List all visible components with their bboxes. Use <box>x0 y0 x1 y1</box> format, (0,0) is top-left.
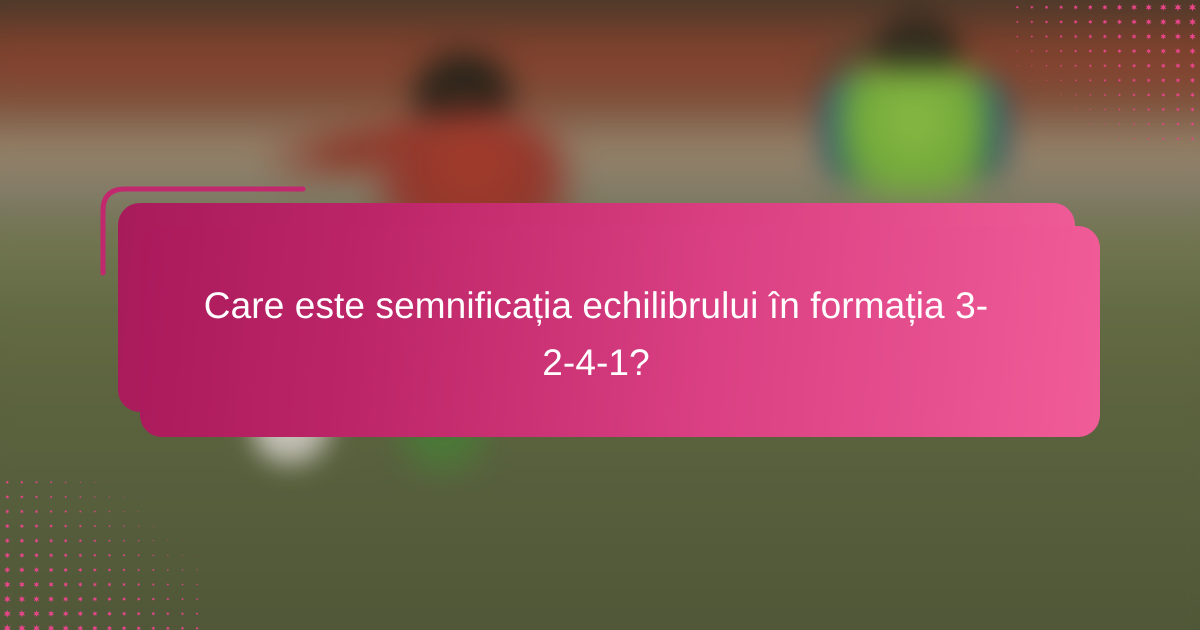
headline-card: Care este semnificația echilibrului în f… <box>140 226 1100 437</box>
page-title: Care este semnificația echilibrului în f… <box>196 277 996 391</box>
poster-canvas: Care este semnificația echilibrului în f… <box>0 0 1200 630</box>
